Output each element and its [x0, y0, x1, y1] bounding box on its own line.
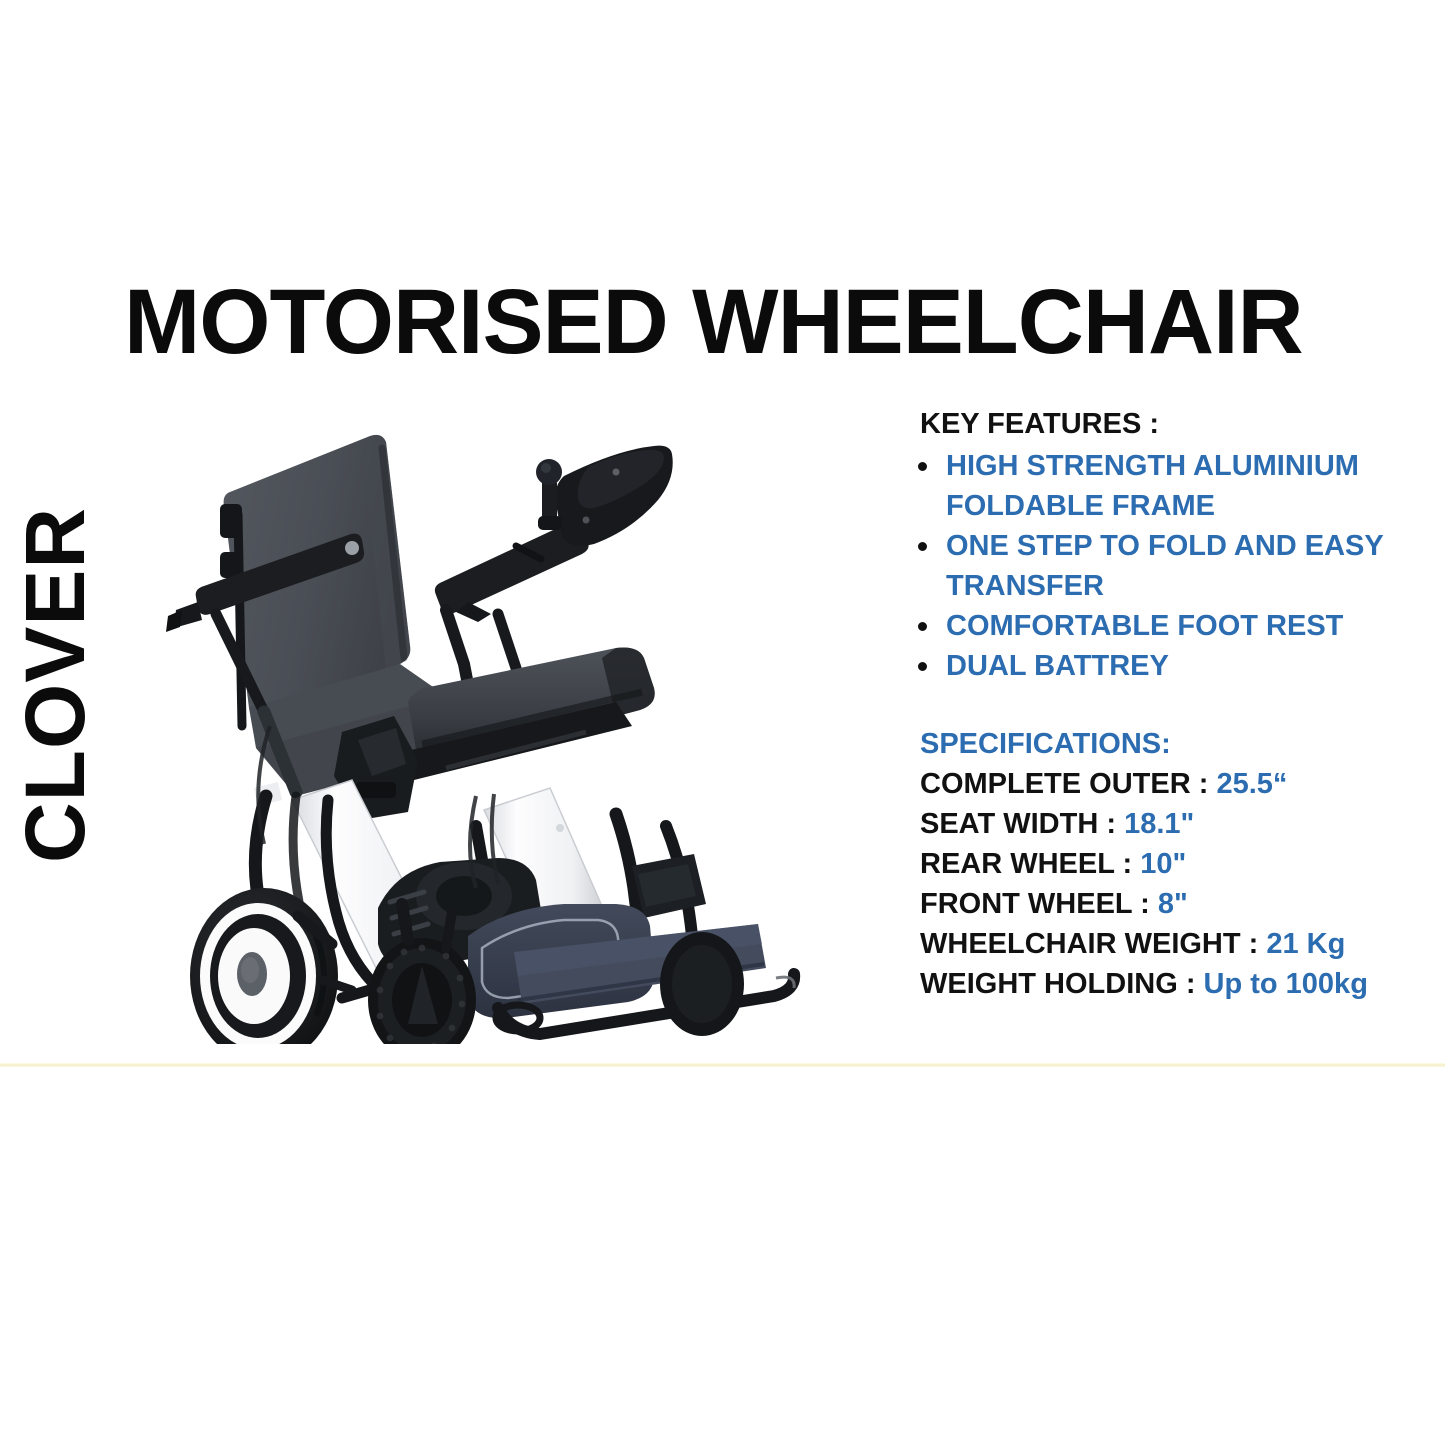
feature-item: DUAL BATTREY — [908, 646, 1408, 686]
spec-row: SEAT WIDTH : 18.1" — [920, 804, 1408, 844]
battery-box — [632, 854, 706, 918]
rear-wheel — [190, 888, 338, 1044]
spec-row: REAR WHEEL : 10" — [920, 844, 1408, 884]
bullet-icon — [918, 662, 927, 671]
feature-text: ONE STEP TO FOLD AND EASY TRANSFER — [946, 526, 1408, 606]
page-title: MOTORISED WHEELCHAIR — [124, 276, 1303, 368]
spec-label: FRONT WHEEL : — [920, 888, 1158, 920]
feature-text: DUAL BATTREY — [946, 646, 1408, 686]
specifications-heading: SPECIFICATIONS: — [920, 724, 1408, 764]
spec-label: COMPLETE OUTER : — [920, 768, 1216, 800]
spec-label: REAR WHEEL : — [920, 848, 1140, 880]
rear-right-wheel — [660, 932, 744, 1036]
section-divider — [0, 1063, 1445, 1067]
feature-item: COMFORTABLE FOOT REST — [908, 606, 1408, 646]
bullet-icon — [918, 542, 927, 551]
spec-value: 18.1" — [1124, 808, 1194, 840]
spec-row: COMPLETE OUTER : 25.5“ — [920, 764, 1408, 804]
product-image — [146, 396, 818, 1044]
bullet-icon — [918, 462, 927, 471]
spec-value: Up to 100kg — [1204, 968, 1368, 1000]
spec-row: WHEELCHAIR WEIGHT : 21 Kg — [920, 924, 1408, 964]
spec-value: 21 Kg — [1266, 928, 1345, 960]
feature-item: ONE STEP TO FOLD AND EASY TRANSFER — [908, 526, 1408, 606]
spec-label: SEAT WIDTH : — [920, 808, 1124, 840]
feature-text: COMFORTABLE FOOT REST — [946, 606, 1408, 646]
bullet-icon — [918, 622, 927, 631]
key-features-list: HIGH STRENGTH ALUMINIUM FOLDABLE FRAME O… — [908, 446, 1408, 686]
spec-value: 10" — [1140, 848, 1186, 880]
spec-value: 8" — [1158, 888, 1188, 920]
brand-label-vertical: CLOVER — [0, 520, 110, 850]
info-panel: KEY FEATURES : HIGH STRENGTH ALUMINIUM F… — [908, 404, 1408, 1004]
spec-value: 25.5“ — [1216, 768, 1287, 800]
spec-row: FRONT WHEEL : 8" — [920, 884, 1408, 924]
feature-text: HIGH STRENGTH ALUMINIUM FOLDABLE FRAME — [946, 446, 1408, 526]
brand-name: CLOVER — [13, 507, 97, 863]
product-poster: MOTORISED WHEELCHAIR CLOVER — [0, 0, 1445, 1445]
specifications-list: COMPLETE OUTER : 25.5“ SEAT WIDTH : 18.1… — [920, 764, 1408, 1004]
feature-item: HIGH STRENGTH ALUMINIUM FOLDABLE FRAME — [908, 446, 1408, 526]
spec-row: WEIGHT HOLDING : Up to 100kg — [920, 964, 1408, 1004]
section-spacer — [908, 686, 1408, 724]
spec-label: WEIGHT HOLDING : — [920, 968, 1204, 1000]
wheelchair-illustration — [146, 396, 818, 1044]
key-features-heading: KEY FEATURES : — [920, 404, 1408, 444]
spec-label: WHEELCHAIR WEIGHT : — [920, 928, 1266, 960]
